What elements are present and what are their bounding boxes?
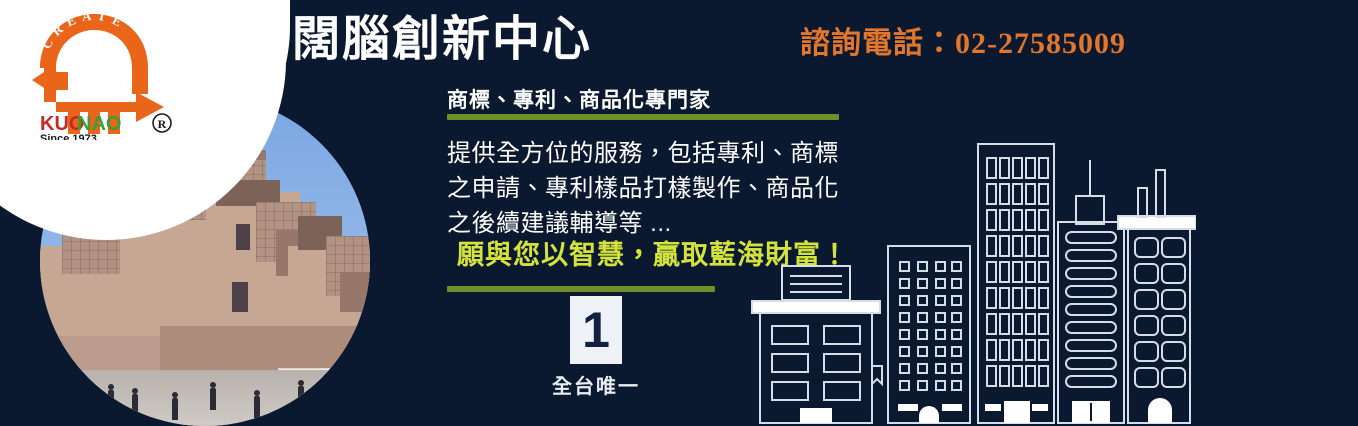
skyline-building-2 xyxy=(888,246,970,423)
city-skyline-illustration xyxy=(746,126,1196,426)
photo-ground xyxy=(40,370,370,426)
photo-person xyxy=(298,386,304,408)
divider-top xyxy=(447,114,839,120)
skyline-building-1 xyxy=(752,266,882,423)
photo-window xyxy=(232,282,248,312)
rank-badge-caption: 全台唯一 xyxy=(548,370,644,399)
page-title: 闊腦創新中心 xyxy=(292,14,592,67)
skyline-building-4 xyxy=(1058,160,1124,423)
photo-window xyxy=(236,224,250,250)
skyline-building-5 xyxy=(1118,170,1196,423)
photo-person xyxy=(326,392,332,414)
photo-person xyxy=(254,396,260,418)
subtitle: 商標、專利、商品化專門家 xyxy=(447,84,711,114)
skyline-building-3 xyxy=(978,144,1054,423)
rank-badge: 1 xyxy=(570,296,622,364)
photo-person xyxy=(210,388,216,410)
photo-person xyxy=(172,398,178,420)
photo-block xyxy=(340,272,370,312)
photo-person xyxy=(108,390,114,412)
company-logo: CREATE KUO NAO R Since 1973 xyxy=(24,6,194,140)
logo-since-text: Since 1973 xyxy=(40,133,97,140)
contact-phone[interactable]: 諮詢電話：02-27585009 xyxy=(800,18,1126,62)
divider-bottom xyxy=(447,286,715,292)
registered-trademark-icon: R xyxy=(158,117,167,131)
promotional-banner: 17 xyxy=(0,0,1358,426)
rank-badge-number: 1 xyxy=(582,305,610,355)
logo-brand-nao: NAO xyxy=(77,113,121,135)
photo-person xyxy=(132,394,138,416)
